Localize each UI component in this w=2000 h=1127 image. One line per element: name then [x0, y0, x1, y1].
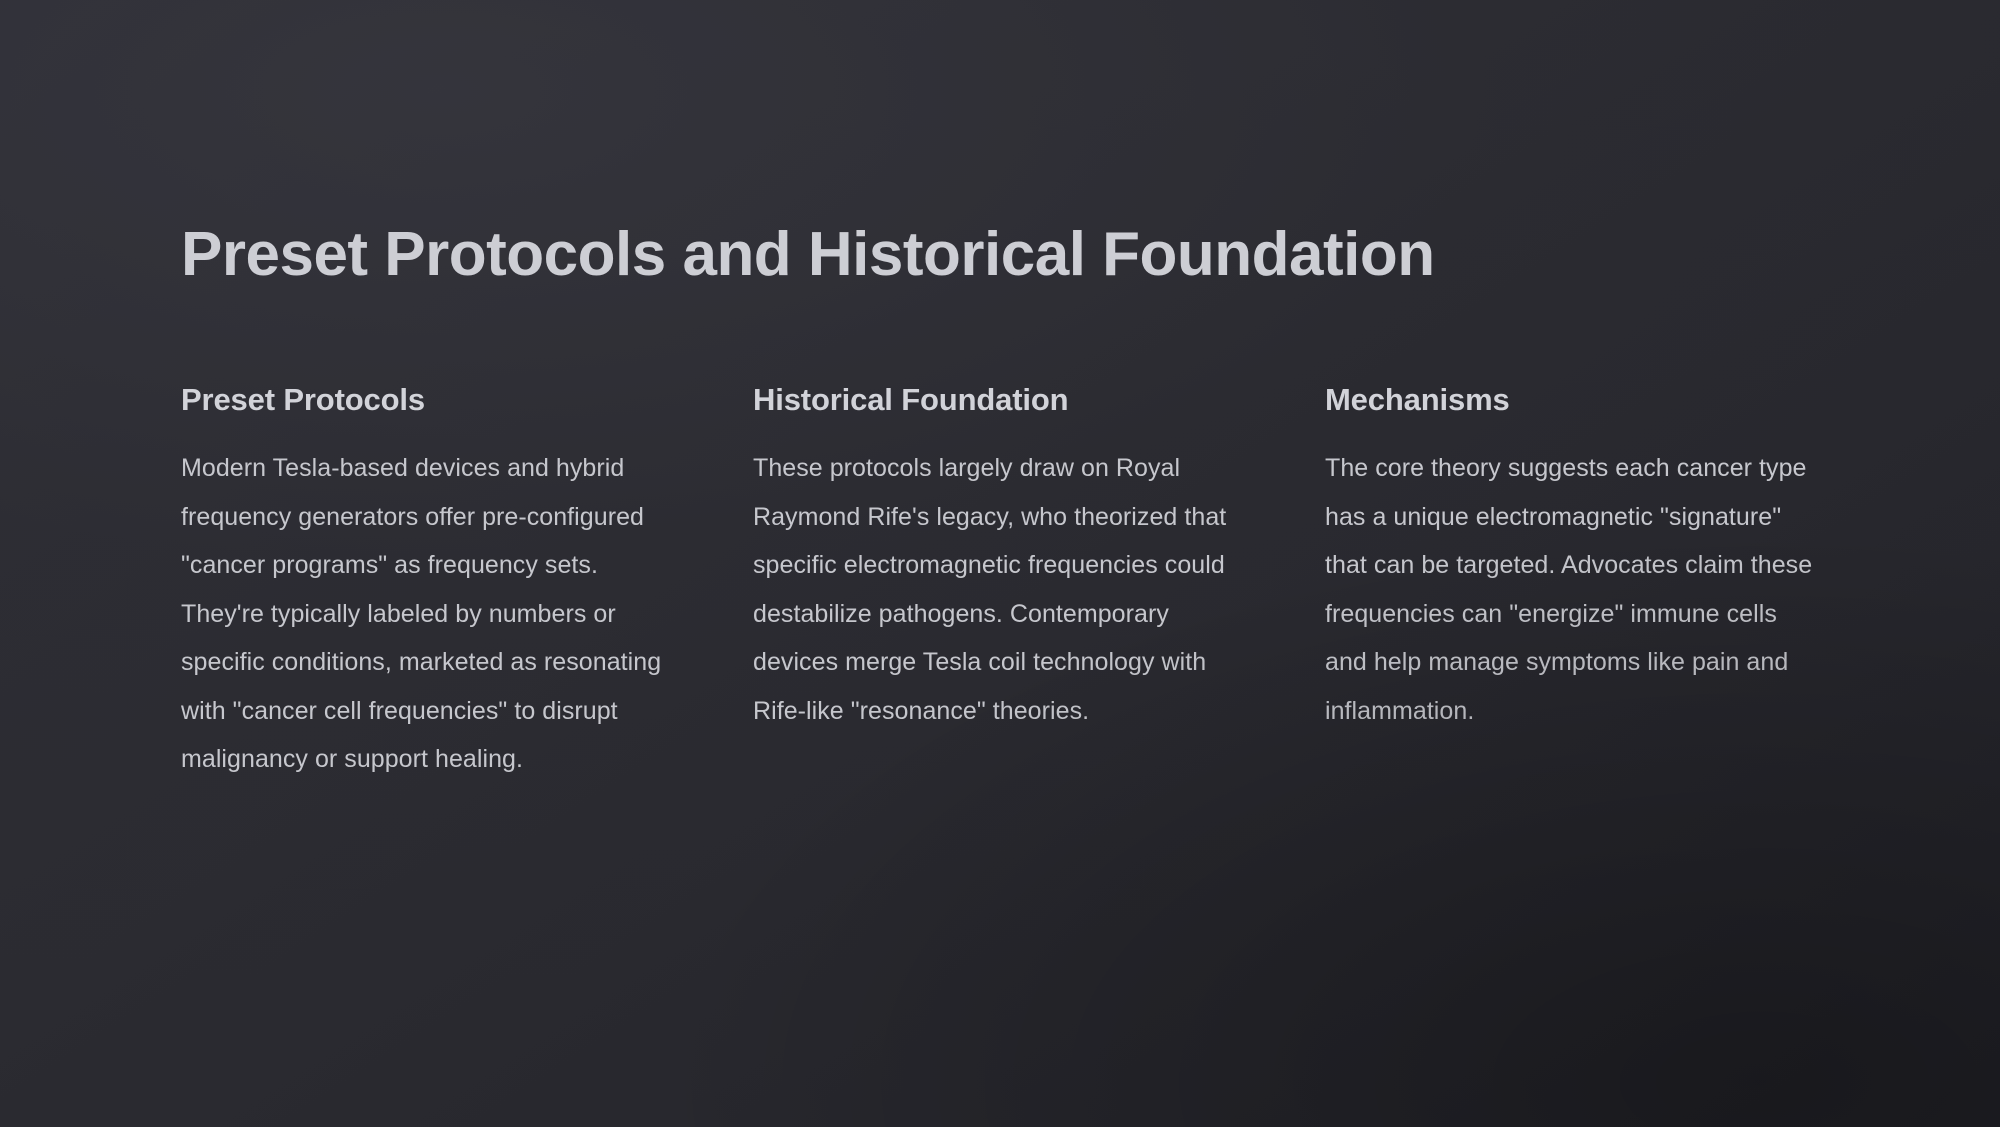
column-heading: Historical Foundation: [753, 380, 1253, 420]
column-body-text: The core theory suggests each cancer typ…: [1325, 444, 1825, 735]
column-group: Preset Protocols Modern Tesla-based devi…: [181, 380, 1881, 784]
column-body-text: Modern Tesla-based devices and hybrid fr…: [181, 444, 681, 784]
column-historical-foundation: Historical Foundation These protocols la…: [753, 380, 1253, 735]
page-title: Preset Protocols and Historical Foundati…: [181, 218, 1435, 292]
column-mechanisms: Mechanisms The core theory suggests each…: [1325, 380, 1825, 735]
column-heading: Mechanisms: [1325, 380, 1825, 420]
slide-canvas: Preset Protocols and Historical Foundati…: [0, 0, 2000, 1127]
column-body-text: These protocols largely draw on Royal Ra…: [753, 444, 1253, 735]
column-preset-protocols: Preset Protocols Modern Tesla-based devi…: [181, 380, 681, 784]
column-heading: Preset Protocols: [181, 380, 681, 420]
